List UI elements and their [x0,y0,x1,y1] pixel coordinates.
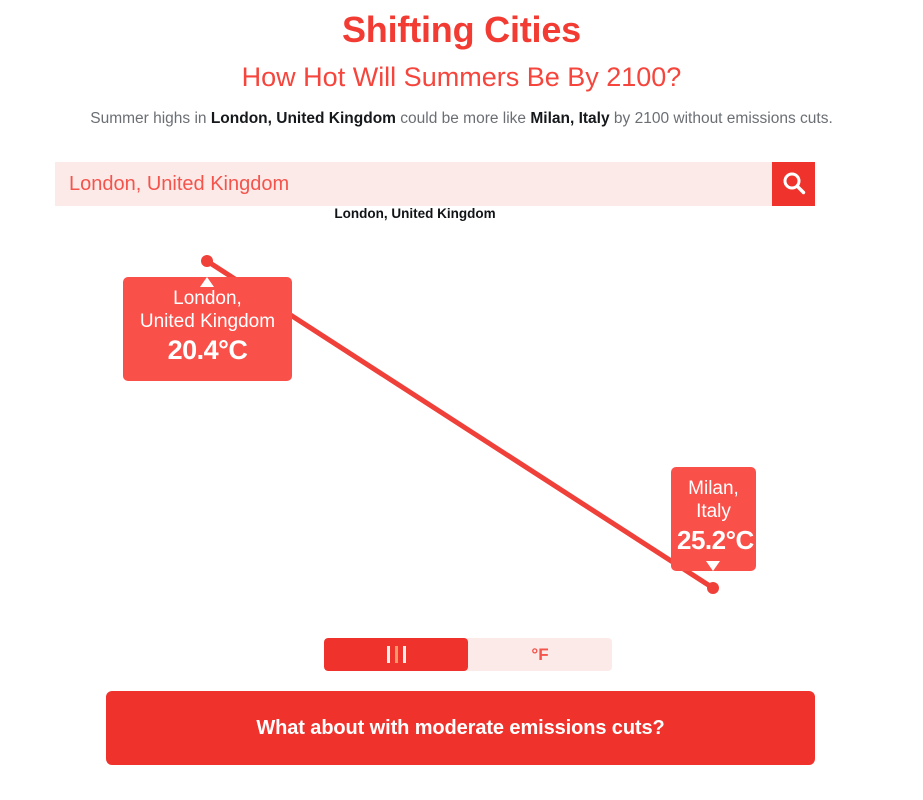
tooltip-london-temperature: 20.4°C [135,335,280,366]
unit-toggle-fahrenheit[interactable]: °F [468,638,612,671]
celsius-glyph-icon [387,646,406,663]
description-city-to: Milan, Italy [530,110,609,127]
tooltip-london-notch-icon [200,277,214,287]
description-city-from: London, United Kingdom [211,110,396,127]
tooltip-milan-city: Milan, Italy [677,477,750,523]
tooltip-milan-temperature: 25.2°C [677,525,750,556]
search-caption: London, United Kingdom [0,205,830,223]
page-description: Summer highs in London, United Kingdom c… [0,108,923,130]
page-subtitle: How Hot Will Summers Be By 2100? [0,60,923,94]
search-icon [781,170,807,199]
page-title: Shifting Cities [0,8,923,52]
tooltip-milan: Milan, Italy 25.2°C [671,467,756,571]
unit-toggle[interactable]: °F [324,638,612,671]
unit-toggle-celsius[interactable] [324,638,468,671]
search-row [55,162,815,206]
tooltip-london: London, United Kingdom 20.4°C [123,277,292,381]
tooltip-milan-notch-icon [706,561,720,571]
description-middle: could be more like [396,110,530,127]
shifting-cities-app: Shifting Cities How Hot Will Summers Be … [0,0,923,800]
origin-point-london [201,255,213,267]
search-button[interactable] [772,162,815,206]
description-suffix: by 2100 without emissions cuts. [610,110,833,127]
description-prefix: Summer highs in [90,110,211,127]
search-input[interactable] [55,162,772,206]
destination-point-milan [707,582,719,594]
moderate-emissions-cta-button[interactable]: What about with moderate emissions cuts? [106,691,815,765]
tooltip-london-city: London, United Kingdom [135,287,280,333]
